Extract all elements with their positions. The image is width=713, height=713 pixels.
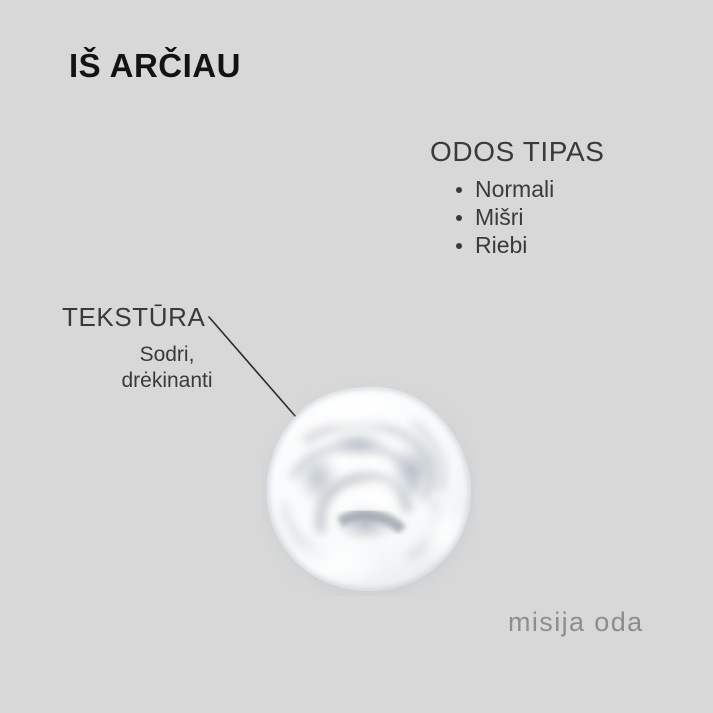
blob-highlight-center — [358, 474, 402, 510]
blob-highlight-top — [308, 390, 400, 434]
list-item: Mišri — [430, 203, 680, 231]
blob-shade-pool-1 — [332, 504, 400, 544]
skin-type-item-label: Riebi — [475, 232, 527, 258]
skin-type-item-label: Normali — [475, 176, 554, 202]
brand-logo: misija oda — [508, 608, 644, 638]
bullet-dot-icon — [456, 187, 462, 193]
texture-description: Sodri, drėkinanti — [62, 342, 262, 394]
texture-description-line-1: Sodri, — [72, 342, 262, 368]
cream-blob — [262, 382, 476, 596]
blob-shade-pool-4 — [328, 430, 388, 458]
infographic-canvas: IŠ ARČIAU ODOS TIPAS Normali Mišri Riebi… — [0, 0, 713, 713]
skin-type-item-label: Mišri — [475, 204, 524, 230]
texture-heading: TEKSTŪRA — [62, 302, 262, 333]
skin-type-list: Normali Mišri Riebi — [430, 175, 680, 259]
blob-shade-pool-3 — [296, 450, 340, 506]
skin-type-section: ODOS TIPAS Normali Mišri Riebi — [430, 135, 680, 259]
texture-description-line-2: drėkinanti — [72, 368, 262, 394]
page-title: IŠ ARČIAU — [69, 48, 241, 84]
bullet-dot-icon — [456, 215, 462, 221]
texture-section: TEKSTŪRA Sodri, drėkinanti — [62, 302, 262, 394]
list-item: Riebi — [430, 231, 680, 259]
skin-type-heading: ODOS TIPAS — [430, 135, 680, 169]
list-item: Normali — [430, 175, 680, 203]
bullet-dot-icon — [456, 243, 462, 249]
